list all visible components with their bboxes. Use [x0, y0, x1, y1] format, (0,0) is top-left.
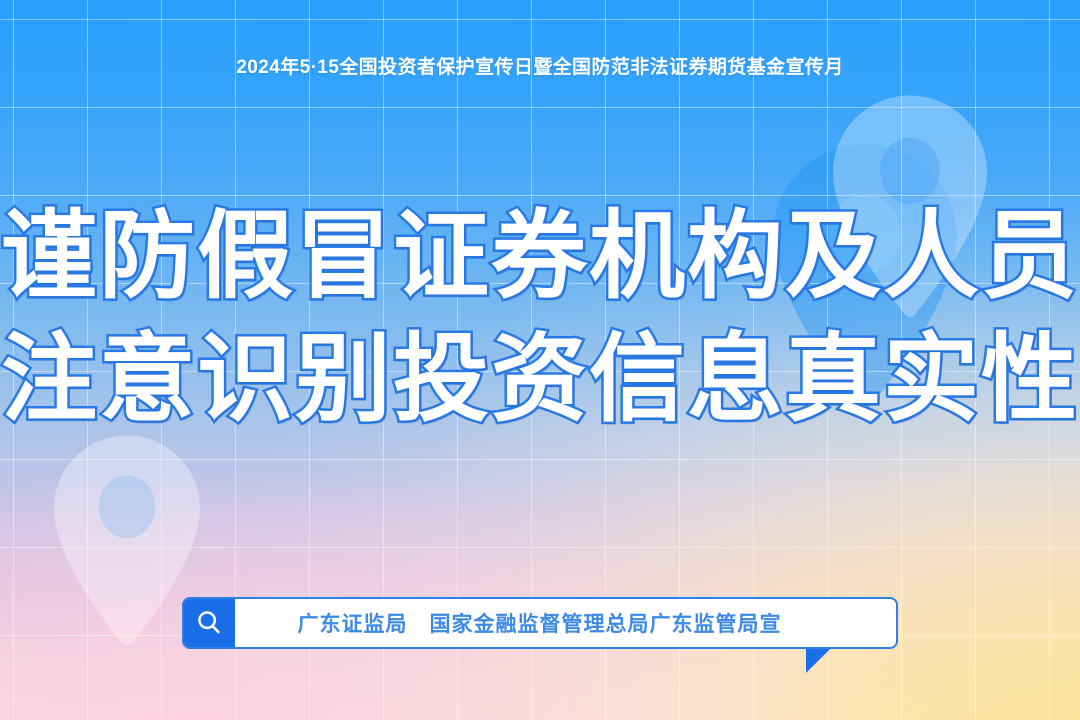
- poster-canvas: 2024年5·15全国投资者保护宣传日暨全国防范非法证券期货基金宣传月 谨防假冒…: [0, 0, 1080, 720]
- footer-callout: 广东证监局 国家金融监督管理总局广东监管局宣: [182, 597, 898, 649]
- search-icon: [183, 599, 235, 647]
- header-campaign-text: 2024年5·15全国投资者保护宣传日暨全国防范非法证券期货基金宣传月: [236, 52, 843, 79]
- headline-line-1: 谨防假冒证券机构及人员: [0, 196, 1080, 319]
- headline-line-2: 注意识别投资信息真实性: [0, 319, 1080, 442]
- header-banner: 2024年5·15全国投资者保护宣传日暨全国防范非法证券期货基金宣传月: [0, 52, 1080, 79]
- footer-issuer-text: 广东证监局 国家金融监督管理总局广东监管局宣: [235, 608, 896, 638]
- footer-callout-box: 广东证监局 国家金融监督管理总局广东监管局宣: [182, 597, 898, 649]
- headline-block: 谨防假冒证券机构及人员 注意识别投资信息真实性: [0, 196, 1080, 442]
- callout-tail: [806, 647, 832, 673]
